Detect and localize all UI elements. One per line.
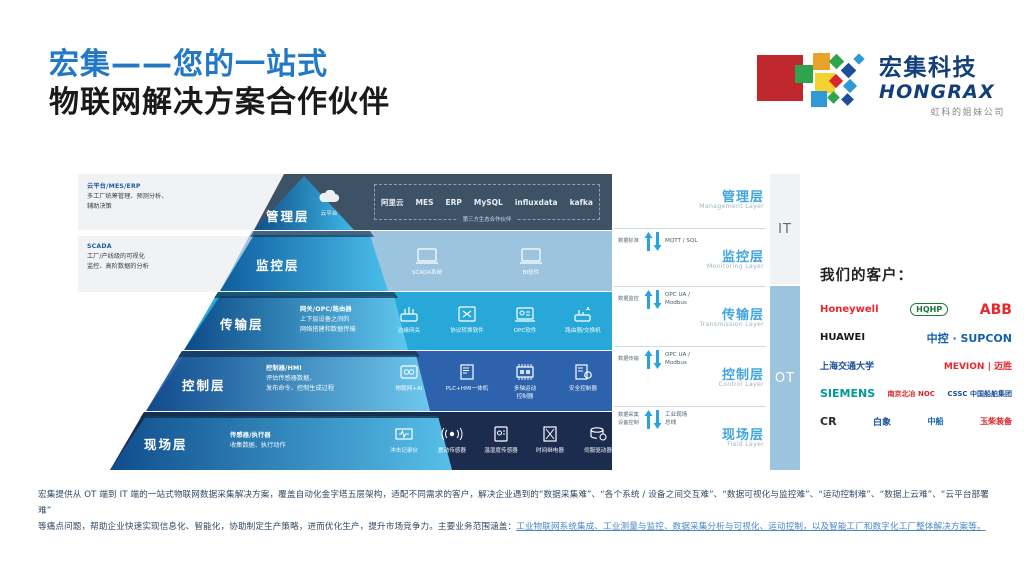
- icon-label: 云平台: [300, 211, 358, 219]
- customer-row: CR 白象 中船 玉柴装备: [820, 413, 1012, 430]
- layer-icon-item[interactable]: 温湿度传感器: [476, 423, 526, 456]
- title-line-2: 物联网解决方案合作伙伴: [49, 84, 390, 122]
- customer-logo: 中控 · SUPCON: [927, 330, 1012, 346]
- layer-icon-item[interactable]: 边缘网关: [380, 303, 438, 336]
- wifi-router-icon: [554, 303, 612, 325]
- router-icon: [380, 303, 438, 325]
- pyramid-layer-transmission[interactable]: 传输层 网关/OPC/路由器 上下层设备之间的 网络搭建和数据传输 边缘网关 协…: [78, 292, 612, 350]
- opc-software-icon: [496, 303, 554, 325]
- customer-logo: HQHP: [910, 303, 948, 316]
- icon-label: 时间继电器: [526, 448, 574, 456]
- icon-label: BI软件: [502, 270, 560, 278]
- footer-line-2-text: 等痛点问题，帮助企业快速实现信息化、智能化，协助制定生产策略，进而优化生产，提升…: [38, 522, 516, 532]
- axis-layer-name-en: Management Layer: [699, 203, 764, 210]
- domain-band-ot: OT: [770, 286, 800, 470]
- icon-label: 多轴运动 控制器: [496, 386, 554, 401]
- axis-divider: [614, 286, 766, 287]
- iot-ai-icon: [380, 361, 438, 383]
- customer-logo: 南京北冶 NOC: [888, 389, 935, 399]
- third-party-partners: 阿里云 MES ERP MySQL influxdata kafka 第三方生态…: [374, 184, 600, 220]
- icon-label: 伺服驱动器: [574, 448, 612, 456]
- arrow-down-icon: [653, 350, 662, 369]
- vibration-sensor-icon: [428, 423, 476, 445]
- plc-hmi-icon: [438, 361, 496, 383]
- shock-recorder-icon: [380, 423, 428, 445]
- connector-up-label: 数据传输: [618, 356, 644, 363]
- customer-logo: CSSC 中国船舶集团: [947, 389, 1012, 399]
- customer-logo: 白象: [873, 415, 891, 428]
- connector-up-label: 数据标准: [618, 238, 644, 245]
- logo-name-en: HONGRAX: [879, 81, 1005, 103]
- layer-icon-item[interactable]: BI软件: [502, 245, 560, 278]
- layer-name: 现场层: [144, 434, 188, 453]
- arrow-up-icon: [644, 290, 653, 309]
- layer-icon-item[interactable]: 协议转换软件: [438, 303, 496, 336]
- layer-icon-list: 边缘网关 协议转换软件 OPC软件: [380, 303, 612, 336]
- layer-desc-title: 控制器/HMI: [266, 363, 358, 372]
- partner-logo: 阿里云: [381, 197, 404, 208]
- pyramid-layer-monitoring[interactable]: 监控层 SCADA系统 BI软件: [78, 231, 612, 291]
- customer-row: SIEMENS 南京北冶 NOC CSSC 中国船舶集团: [820, 385, 1012, 402]
- domain-band-it: IT: [770, 174, 800, 284]
- layer-name: 监控层: [256, 255, 300, 274]
- arrow-down-icon: [653, 410, 662, 429]
- icon-label: 温湿度传感器: [476, 448, 526, 456]
- icon-label: 安全控制器: [554, 386, 612, 394]
- layer-icon-item[interactable]: 冲击记录仪: [380, 423, 428, 456]
- connector-up-label: 数据监控: [618, 296, 644, 303]
- layer-icon-list: 云平台: [300, 186, 358, 219]
- layer-name: 控制层: [182, 375, 226, 394]
- partner-logo: MySQL: [474, 198, 503, 207]
- layer-icon-list: SCADA系统 BI软件 环境监测系统: [398, 245, 612, 278]
- servo-driver-icon: [574, 423, 612, 445]
- pyramid-layer-control[interactable]: 控制层 控制器/HMI 评估传感器数据， 发布命令、控制生成过程 物联网+AI …: [78, 351, 612, 411]
- motion-controller-icon: [496, 361, 554, 383]
- customer-logo: 中船: [928, 416, 944, 427]
- connector-1: 数据标准 MQTT / SQL: [618, 232, 697, 251]
- safety-controller-icon: [554, 361, 612, 383]
- axis-divider: [614, 406, 766, 407]
- protocol-convert-icon: [438, 303, 496, 325]
- customer-row: 上海交通大学 MEVION | 迈胜: [820, 357, 1012, 374]
- layer-icon-item[interactable]: PLC+HMI一体机: [438, 361, 496, 401]
- logo-mark-icon: [757, 51, 875, 107]
- arrow-down-icon: [653, 290, 662, 309]
- customer-logo-grid: Honeywell HQHP ABB HUAWEI 中控 · SUPCON 上海…: [820, 301, 1012, 430]
- icon-label: 物联网+AI: [380, 386, 438, 394]
- icon-label: PLC+HMI一体机: [438, 386, 496, 394]
- layer-icon-item[interactable]: 云平台: [300, 186, 358, 219]
- arrow-up-icon: [644, 410, 653, 429]
- pyramid-layer-field[interactable]: 现场层 传感器/执行器 收集数据、执行动作 冲击记录仪 震动传感器: [78, 412, 612, 470]
- layer-desc-body: 评估传感器数据， 发布命令、控制生成过程: [266, 374, 358, 393]
- arrow-down-icon: [653, 232, 662, 251]
- logo-name-cn: 宏集科技: [879, 48, 1005, 82]
- time-relay-icon: [526, 423, 574, 445]
- customer-logo: MEVION | 迈胜: [944, 359, 1012, 372]
- partner-logo: MES: [416, 198, 434, 207]
- logo-subtitle: 虹科的姐妹公司: [879, 105, 1005, 118]
- domain-label: IT: [778, 222, 792, 237]
- partner-logo: kafka: [570, 198, 593, 207]
- connector-2: 数据监控 OPC UA / Modbus: [618, 290, 690, 309]
- connector-down-label: MQTT / SQL: [665, 238, 697, 246]
- cloud-icon: [300, 186, 358, 208]
- icon-label: SCADA系统: [398, 270, 456, 278]
- connector-4: 数据采集 设备控制 工业现场 总线: [618, 410, 687, 429]
- icon-label: 环境监测系统: [606, 270, 612, 278]
- partner-logo: influxdata: [515, 198, 558, 207]
- connector-up-label: 数据采集 设备控制: [618, 412, 644, 427]
- layer-desc-body: 收集数据、执行动作: [230, 441, 322, 451]
- arrow-up-icon: [644, 232, 653, 251]
- automation-pyramid-diagram: 云平台/MES/ERP 多工厂统筹管理、预测分析、 辅助决策 SCADA 工厂/…: [78, 174, 800, 470]
- layer-icon-item[interactable]: 环境监测系统: [606, 245, 612, 278]
- icon-label: 边缘网关: [380, 328, 438, 336]
- monitor-icon: [606, 245, 612, 267]
- customer-row: HUAWEI 中控 · SUPCON: [820, 329, 1012, 346]
- layer-icon-item[interactable]: 路由器/交换机: [554, 303, 612, 336]
- customer-logo: 上海交通大学: [820, 359, 874, 372]
- customer-row: Honeywell HQHP ABB: [820, 301, 1012, 318]
- layer-icon-list: 物联网+AI PLC+HMI一体机 多轴运动 控制器: [380, 361, 612, 401]
- arrow-up-icon: [644, 350, 653, 369]
- connector-3: 数据传输 OPC UA / Modbus: [618, 350, 690, 369]
- layer-axis: IT OT 管理层 Management Layer 数据标准 MQTT / S…: [614, 174, 800, 470]
- customers-section: 我们的客户： Honeywell HQHP ABB HUAWEI 中控 · SU…: [820, 264, 1012, 441]
- footer-business-scope-link[interactable]: 工业物联网系统集成、工业测量与监控、数据采集分析与可视化、运动控制，以及智能工厂…: [516, 522, 985, 532]
- customers-title: 我们的客户：: [820, 264, 1012, 285]
- connector-down-label: OPC UA / Modbus: [665, 292, 690, 307]
- customer-logo: SIEMENS: [820, 387, 875, 400]
- title-line-1: 宏集——您的一站式: [49, 46, 390, 84]
- layer-icon-item[interactable]: 多轴运动 控制器: [496, 361, 554, 401]
- axis-layer-name-en: Transmission Layer: [699, 321, 764, 328]
- layer-icon-item[interactable]: 伺服驱动器: [574, 423, 612, 456]
- customer-logo: CR: [820, 415, 837, 428]
- icon-label: 冲击记录仪: [380, 448, 428, 456]
- axis-layer-name-en: Field Layer: [727, 441, 764, 448]
- logo-text: 宏集科技 HONGRAX 虹科的姐妹公司: [879, 48, 1005, 118]
- layer-desc-body: 上下层设备之间的 网络搭建和数据传输: [300, 315, 382, 334]
- icon-label: 协议转换软件: [438, 328, 496, 336]
- layer-desc: 控制器/HMI 评估传感器数据， 发布命令、控制生成过程: [266, 363, 358, 393]
- icon-label: 路由器/交换机: [554, 328, 612, 336]
- connector-down-label: OPC UA / Modbus: [665, 352, 690, 367]
- monitor-icon: [398, 245, 456, 267]
- page-title: 宏集——您的一站式 物联网解决方案合作伙伴: [49, 46, 390, 123]
- customer-logo: Honeywell: [820, 304, 879, 315]
- layer-icon-item[interactable]: 震动传感器: [428, 423, 476, 456]
- layer-desc-title: 传感器/执行器: [230, 430, 322, 439]
- layer-icon-item[interactable]: 安全控制器: [554, 361, 612, 401]
- domain-label: OT: [775, 371, 795, 386]
- slide-root: 宏集——您的一站式 物联网解决方案合作伙伴 宏集科技 HONGRAX 虹科的姐妹…: [0, 0, 1024, 576]
- third-party-caption: 第三方生态合作伙伴: [375, 215, 599, 223]
- footer-line-1: 宏集提供从 OT 端到 IT 端的一站式物联网数据采集解决方案，覆盖自动化金字塔…: [38, 488, 998, 520]
- layer-desc: 传感器/执行器 收集数据、执行动作: [230, 430, 322, 451]
- layer-desc-title: 网关/OPC/路由器: [300, 304, 382, 313]
- layer-desc: 网关/OPC/路由器 上下层设备之间的 网络搭建和数据传输: [300, 304, 382, 334]
- layer-name: 传输层: [220, 314, 264, 333]
- customer-logo: 玉柴装备: [980, 416, 1012, 427]
- partner-logo: ERP: [446, 198, 462, 207]
- axis-layer-name-en: Monitoring Layer: [707, 263, 764, 270]
- axis-divider: [614, 346, 766, 347]
- footer-line-2: 等痛点问题，帮助企业快速实现信息化、智能化，协助制定生产策略，进而优化生产，提升…: [38, 520, 998, 536]
- footer-description: 宏集提供从 OT 端到 IT 端的一站式物联网数据采集解决方案，覆盖自动化金字塔…: [38, 488, 998, 536]
- pyramid-layer-management[interactable]: 管理层 阿里云 MES ERP MySQL influxdata kafka 第…: [78, 174, 612, 230]
- customer-logo: HUAWEI: [820, 332, 865, 343]
- icon-label: 震动传感器: [428, 448, 476, 456]
- layer-icon-item[interactable]: OPC软件: [496, 303, 554, 336]
- icon-label: OPC软件: [496, 328, 554, 336]
- layer-icon-list: 冲击记录仪 震动传感器 温湿度传感器: [380, 423, 612, 456]
- axis-layer-name-en: Control Layer: [719, 381, 764, 388]
- layer-icon-item[interactable]: 物联网+AI: [380, 361, 438, 401]
- company-logo: 宏集科技 HONGRAX 虹科的姐妹公司: [757, 48, 1005, 114]
- axis-divider: [614, 228, 766, 229]
- layer-icon-item[interactable]: SCADA系统: [398, 245, 456, 278]
- temp-humidity-sensor-icon: [476, 423, 526, 445]
- connector-down-label: 工业现场 总线: [665, 412, 687, 427]
- monitor-icon: [502, 245, 560, 267]
- layer-icon-item[interactable]: 时间继电器: [526, 423, 574, 456]
- customer-logo: ABB: [980, 302, 1012, 318]
